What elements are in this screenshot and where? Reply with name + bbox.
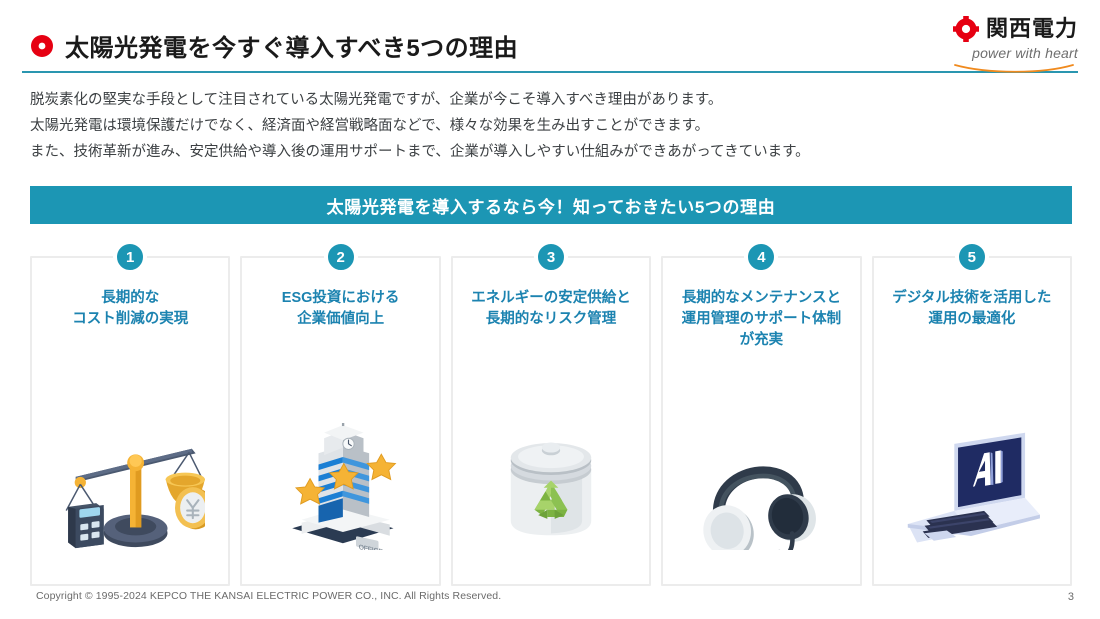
card-number-badge: 1 (113, 240, 147, 274)
footer-page-number: 3 (1068, 591, 1074, 603)
card-title-line-1: 長期的なメンテナンスと (671, 288, 851, 309)
page-title: 太陽光発電を今すぐ導入すべき5つの理由 (65, 28, 518, 63)
card-title-line-1: ESG投資における (250, 288, 430, 309)
red-dot-icon (30, 34, 54, 58)
card-title-line-3: が充実 (671, 330, 851, 351)
reason-card-5[interactable]: 5 デジタル技術を活用した 運用の最適化 (872, 256, 1072, 586)
recycle-bin-icon (453, 410, 649, 550)
card-title: デジタル技術を活用した 運用の最適化 (874, 288, 1070, 330)
lead-line-2: 太陽光発電は環境保護だけでなく、経済面や経営戦略面などで、様々な効果を生み出すこ… (30, 114, 1060, 140)
balance-scale-calculator-coin-icon (32, 410, 228, 550)
section-banner: 太陽光発電を導入するなら今！知っておきたい5つの理由 (30, 186, 1072, 224)
card-number-badge: 5 (955, 240, 989, 274)
card-title: 長期的なメンテナンスと 運用管理のサポート体制 が充実 (663, 288, 859, 351)
lead-paragraph: 脱炭素化の堅実な手段として注目されている太陽光発電ですが、企業が今こそ導入すべき… (30, 88, 1060, 165)
reason-card-3[interactable]: 3 エネルギーの安定供給と 長期的なリスク管理 (451, 256, 651, 586)
card-title-line-2: コスト削減の実現 (40, 309, 220, 330)
logo-wordmark: 関西電力 (986, 18, 1078, 40)
footer-copyright: Copyright © 1995-2024 KEPCO THE KANSAI E… (36, 590, 501, 602)
card-title-line-2: 企業価値向上 (250, 309, 430, 330)
kepco-gear-icon (953, 16, 979, 42)
card-title: ESG投資における 企業価値向上 (242, 288, 438, 330)
slide-header: 太陽光発電を今すぐ導入すべき5つの理由 関西電力 power w (0, 0, 1100, 78)
lead-line-3: また、技術革新が進み、安定供給や導入後の運用サポートまで、企業が導入しやすい仕組… (30, 140, 1060, 166)
orange-swoosh-icon (954, 60, 1074, 69)
support-headset-icon (663, 410, 859, 550)
card-title-line-2: 運用管理のサポート体制 (671, 309, 851, 330)
card-number-badge: 3 (534, 240, 568, 274)
reason-card-4[interactable]: 4 長期的なメンテナンスと 運用管理のサポート体制 が充実 (661, 256, 861, 586)
title-row: 太陽光発電を今すぐ導入すべき5つの理由 (30, 28, 518, 63)
card-title: 長期的な コスト削減の実現 (32, 288, 228, 330)
header-divider (22, 71, 1078, 73)
card-title: エネルギーの安定供給と 長期的なリスク管理 (453, 288, 649, 330)
logo-tagline-wrap: power with heart (938, 46, 1078, 66)
laptop-ai-icon (874, 410, 1070, 550)
card-title-line-1: 長期的な (40, 288, 220, 309)
card-title-line-1: デジタル技術を活用した (882, 288, 1062, 309)
kepco-logo: 関西電力 power with heart (938, 16, 1078, 64)
card-title-line-2: 長期的なリスク管理 (461, 309, 641, 330)
reason-card-1[interactable]: 1 長期的な コスト削減の実現 (30, 256, 230, 586)
card-number-badge: 2 (324, 240, 358, 274)
card-title-line-1: エネルギーの安定供給と (461, 288, 641, 309)
card-number-badge: 4 (744, 240, 778, 274)
office-tower-stars-icon: OFFICE (242, 410, 438, 550)
logo-top-row: 関西電力 (938, 16, 1078, 42)
card-title-line-2: 運用の最適化 (882, 309, 1062, 330)
reason-card-2[interactable]: 2 ESG投資における 企業価値向上 OFFICE (240, 256, 440, 586)
reason-cards: 1 長期的な コスト削減の実現 (30, 256, 1072, 586)
lead-line-1: 脱炭素化の堅実な手段として注目されている太陽光発電ですが、企業が今こそ導入すべき… (30, 88, 1060, 114)
